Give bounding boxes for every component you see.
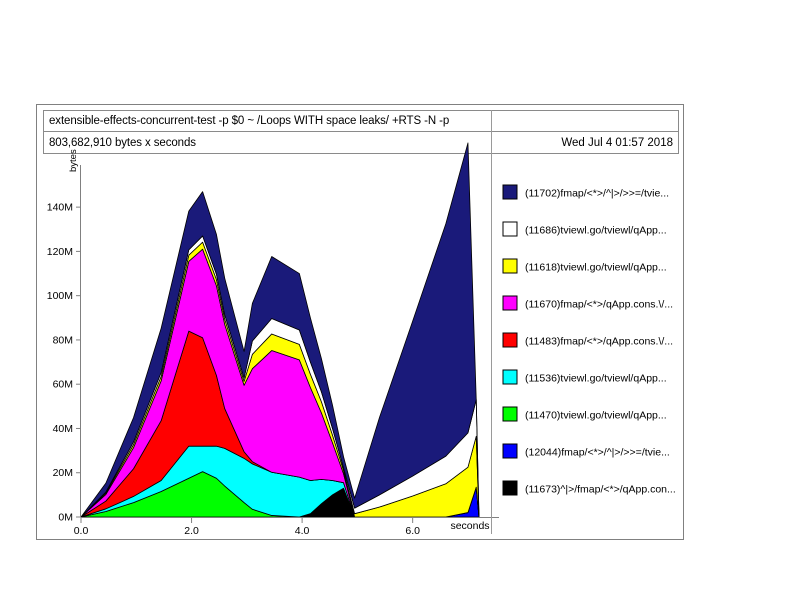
legend-label: (12044)fmap/<*>/^|>/>>=/tvie... <box>525 447 670 459</box>
y-tick-label: 120M <box>47 246 73 258</box>
y-axis-title: bytes <box>68 149 79 172</box>
y-axis: 0M20M40M60M80M100M120M140M <box>47 165 81 524</box>
legend-swatch <box>503 259 517 273</box>
legend-label: (11702)fmap/<*>/^|>/>>=/tvie... <box>525 188 669 200</box>
legend-swatch <box>503 333 517 347</box>
legend-swatch <box>503 296 517 310</box>
y-tick-label: 80M <box>53 334 73 346</box>
heap-profile-chart: 0M20M40M60M80M100M120M140M 0.02.04.06.0 … <box>36 104 684 540</box>
y-tick-label: 60M <box>53 379 73 391</box>
x-axis: 0.02.04.06.0 <box>74 518 499 538</box>
x-axis-title: seconds <box>450 520 489 532</box>
stacked-areas <box>81 143 479 517</box>
legend-swatch <box>503 444 517 458</box>
legend-swatch <box>503 185 517 199</box>
legend-label: (11483)fmap/<*>/qApp.cons.\/... <box>525 336 673 348</box>
legend-label: (11686)tviewl.go/tviewl/qApp... <box>525 225 667 237</box>
y-tick-label: 0M <box>58 512 73 524</box>
x-tick-label: 0.0 <box>74 525 89 537</box>
y-tick-label: 20M <box>53 467 73 479</box>
legend-swatch <box>503 407 517 421</box>
legend-label: (11670)fmap/<*>/qApp.cons.\/... <box>525 299 673 311</box>
legend-swatch <box>503 370 517 384</box>
legend-label: (11673)^|>/fmap/<*>/qApp.con... <box>525 484 676 496</box>
y-tick-label: 40M <box>53 423 73 435</box>
y-tick-label: 100M <box>47 290 73 302</box>
x-tick-label: 4.0 <box>295 525 310 537</box>
x-tick-label: 6.0 <box>405 525 420 537</box>
heap-profile-page: extensible-effects-concurrent-test -p $0… <box>0 0 792 612</box>
x-tick-label: 2.0 <box>184 525 199 537</box>
legend: (11702)fmap/<*>/^|>/>>=/tvie...(11686)tv… <box>503 185 676 496</box>
legend-swatch <box>503 222 517 236</box>
y-tick-label: 140M <box>47 202 73 214</box>
legend-label: (11618)tviewl.go/tviewl/qApp... <box>525 262 667 274</box>
legend-label: (11536)tviewl.go/tviewl/qApp... <box>525 373 667 385</box>
legend-label: (11470)tviewl.go/tviewl/qApp... <box>525 410 667 422</box>
legend-swatch <box>503 481 517 495</box>
